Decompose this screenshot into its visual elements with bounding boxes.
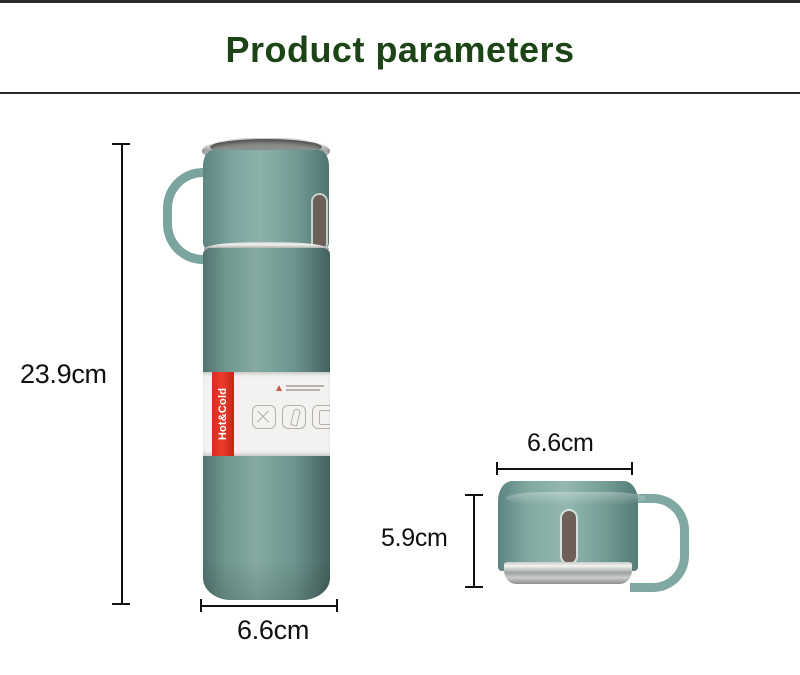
cup-top-edge: [506, 492, 646, 505]
cup-steel-base-shading: [504, 570, 632, 584]
cup-handle: [630, 494, 689, 592]
top-border-rule: [0, 0, 800, 3]
warning-triangle-icon: [276, 385, 282, 391]
cup-width-label: 6.6cm: [527, 429, 594, 458]
cup-width-left-tick: [496, 462, 498, 475]
hot-cold-badge: Hot&Cold: [212, 372, 234, 456]
bottle-width-dimension-line: [200, 605, 338, 607]
bottle-height-top-tick: [112, 143, 130, 145]
cap-icon: [312, 405, 330, 429]
bottle-cup-slot: [313, 195, 326, 250]
cup-height-bottom-tick: [465, 586, 483, 588]
product-parameters-page: Product parameters Hot&Cold: [0, 0, 800, 675]
product-label: Hot&Cold: [203, 372, 330, 456]
bottle-body-shading: [203, 560, 330, 600]
cup-height-label: 5.9cm: [381, 524, 448, 553]
title-divider: [0, 92, 800, 94]
cup-body: [498, 481, 638, 571]
page-title: Product parameters: [0, 28, 800, 72]
hot-cold-badge-text: Hot&Cold: [217, 388, 229, 440]
cup-height-top-tick: [465, 494, 483, 496]
cup-width-dimension-line: [496, 468, 633, 470]
bottle-height-dimension-line: [121, 143, 123, 605]
spoon-icon: [282, 405, 306, 429]
bottle-top-cup: [203, 150, 329, 250]
no-microwave-icon: [252, 405, 276, 429]
bottle-height-label: 23.9cm: [20, 359, 107, 390]
label-panel: [234, 372, 330, 456]
bottle-height-bottom-tick: [112, 603, 130, 605]
warning-icon: [276, 384, 326, 393]
cup-slot: [562, 511, 576, 563]
bottle-width-right-tick: [336, 599, 338, 612]
bottle-width-label: 6.6cm: [237, 615, 309, 646]
care-icons: [252, 405, 330, 429]
cup-height-dimension-line: [473, 494, 475, 588]
warning-text-line: [286, 389, 320, 391]
bottle-width-left-tick: [200, 599, 202, 612]
warning-text-line: [286, 385, 324, 387]
bottle-illustration: Hot&Cold: [150, 130, 380, 620]
cup-width-right-tick: [631, 462, 633, 475]
cup-illustration: [490, 470, 690, 595]
